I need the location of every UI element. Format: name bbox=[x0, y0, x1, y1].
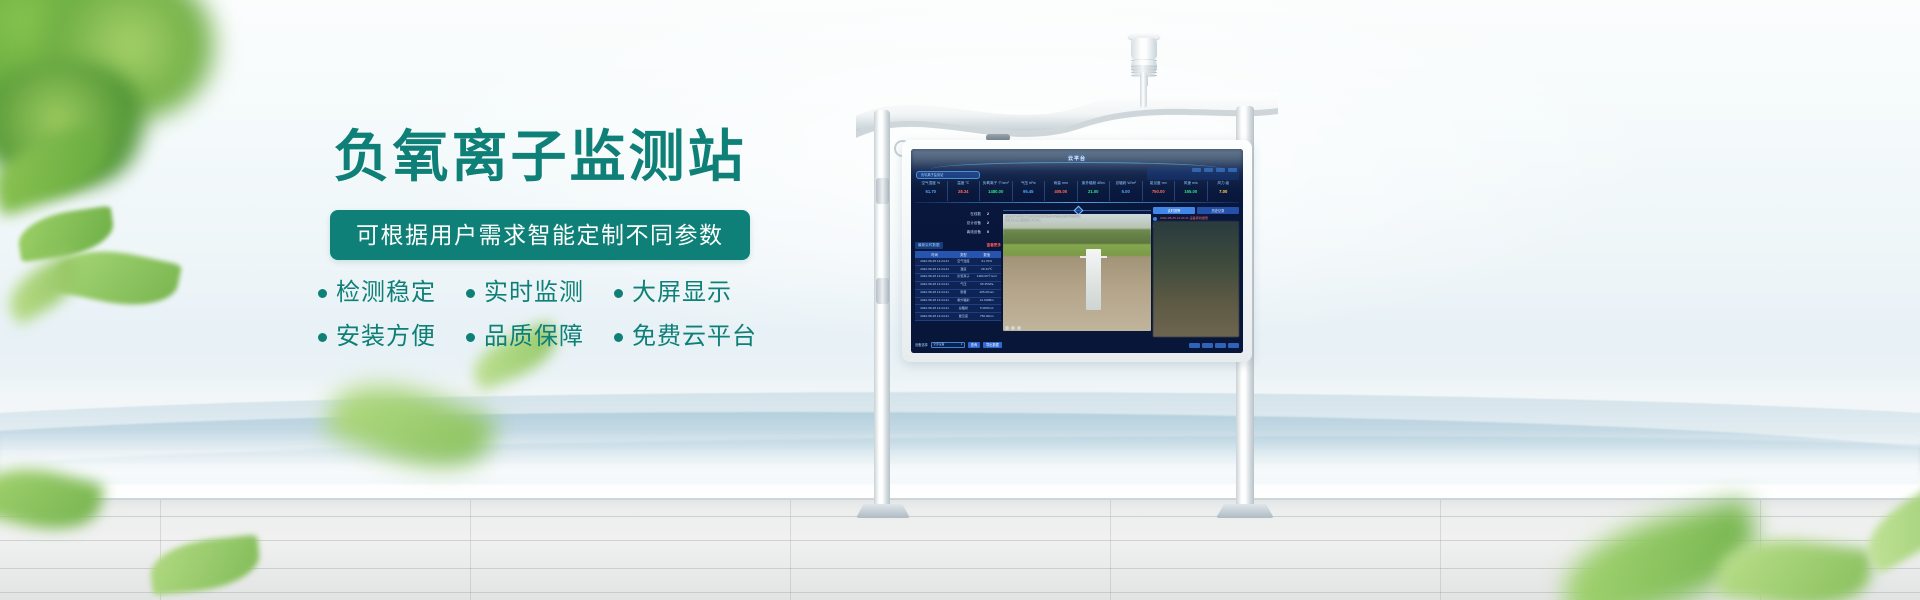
subtitle-badge: 可根据用户需求智能定制不同参数 bbox=[330, 210, 750, 260]
bullet-dot-icon bbox=[614, 289, 623, 298]
feature-item: 品质保障 bbox=[466, 322, 584, 352]
bullet-dot-icon bbox=[466, 289, 475, 298]
page-title: 负氧离子监测站 bbox=[320, 126, 760, 188]
feature-item: 大屏显示 bbox=[614, 278, 732, 308]
feature-row-2: 安装方便 品质保障 免费云平台 bbox=[318, 322, 757, 352]
feature-label: 实时监测 bbox=[484, 278, 584, 308]
feature-label: 安装方便 bbox=[336, 322, 436, 352]
feature-label: 大屏显示 bbox=[632, 278, 732, 308]
bullet-dot-icon bbox=[466, 333, 475, 342]
feature-item: 安装方便 bbox=[318, 322, 436, 352]
bullet-dot-icon bbox=[614, 333, 623, 342]
feature-item: 检测稳定 bbox=[318, 278, 436, 308]
feature-label: 检测稳定 bbox=[336, 278, 436, 308]
banner-copy: 负氧离子监测站 可根据用户需求智能定制不同参数 检测稳定 实时监测 大屏显示 安… bbox=[0, 0, 1920, 600]
feature-label: 免费云平台 bbox=[632, 322, 757, 352]
feature-item: 实时监测 bbox=[466, 278, 584, 308]
bullet-dot-icon bbox=[318, 289, 327, 298]
feature-row-1: 检测稳定 实时监测 大屏显示 bbox=[318, 278, 732, 308]
bullet-dot-icon bbox=[318, 333, 327, 342]
feature-item: 免费云平台 bbox=[614, 322, 757, 352]
feature-label: 品质保障 bbox=[484, 322, 584, 352]
promo-banner: 云平台 负氧离子监测站 空气湿度 % 61.70 bbox=[0, 0, 1920, 600]
